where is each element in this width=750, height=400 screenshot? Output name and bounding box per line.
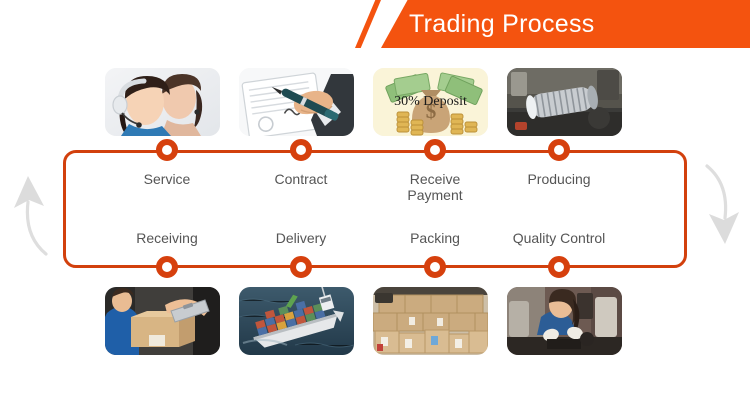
up-arrow-icon (6, 158, 58, 262)
process-loop-outline (63, 150, 687, 268)
customer-service-agents-headset-icon (105, 68, 220, 136)
thumb-quality-control (507, 287, 622, 355)
step-label-quality-control: Quality Control (489, 230, 629, 246)
container-cargo-ship-ocean-icon (239, 287, 354, 355)
money-bag-coins-cash-icon: $ (373, 68, 488, 136)
thumb-service (105, 68, 220, 136)
thumb-receive-payment: $ 30% Deposit (373, 68, 488, 136)
metal-industrial-part-machine-icon (507, 68, 622, 136)
step-label-packing: Packing (365, 230, 505, 246)
node-service (156, 139, 178, 161)
stacked-cardboard-boxes-warehouse-icon (373, 287, 488, 355)
worker-inspecting-product-icon (507, 287, 622, 355)
down-arrow-icon (695, 158, 745, 262)
node-producing (548, 139, 570, 161)
page-title: Trading Process (409, 0, 595, 48)
thumb-producing (507, 68, 622, 136)
worker-carrying-cardboard-box-icon (105, 287, 220, 355)
node-contract (290, 139, 312, 161)
step-label-delivery: Delivery (231, 230, 371, 246)
node-packing (424, 256, 446, 278)
header-banner (0, 0, 750, 48)
banner-accent-shard (355, 0, 381, 48)
thumb-packing (373, 287, 488, 355)
thumb-receiving (105, 287, 220, 355)
thumb-delivery (239, 287, 354, 355)
step-label-receiving: Receiving (97, 230, 237, 246)
node-quality-control (548, 256, 570, 278)
step-label-receive-payment: Receive Payment (365, 171, 505, 203)
node-delivery (290, 256, 312, 278)
node-receive-payment (424, 139, 446, 161)
thumb-contract (239, 68, 354, 136)
node-receiving (156, 256, 178, 278)
hand-signing-contract-pen-icon (239, 68, 354, 136)
step-label-contract: Contract (231, 171, 371, 187)
step-label-producing: Producing (489, 171, 629, 187)
svg-text:$: $ (426, 99, 437, 123)
trading-process-infographic: Trading Process (0, 0, 750, 400)
step-label-service: Service (97, 171, 237, 187)
